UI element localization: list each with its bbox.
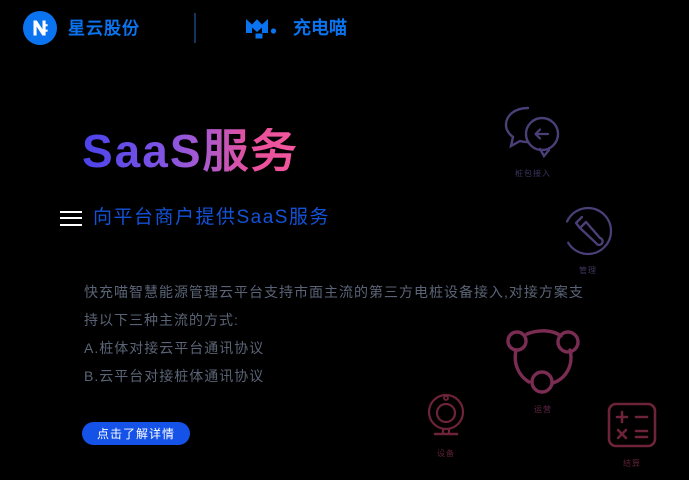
decoration-chat: 桩包接入 [500,104,566,179]
decoration-network-label: 运营 [534,404,552,415]
decoration-device-label: 设备 [437,448,455,459]
learn-more-button[interactable]: 点击了解详情 [82,422,190,445]
decoration-calculator: 结算 [605,400,659,469]
page-title: SaaS服务 [82,128,299,174]
decoration-chat-label: 桩包接入 [515,168,551,179]
brand-primary-label: 星云股份 [68,20,140,37]
decoration-network: 运营 [497,322,589,415]
page-subtitle: 向平台商户提供SaaS服务 [93,208,330,227]
cat-charging-logo-icon [244,16,286,40]
list-item: B.云平台对接桩体通讯协议 [84,362,484,390]
hamburger-menu-icon[interactable] [60,211,82,226]
brand-primary[interactable]: 星云股份 [23,11,140,45]
decoration-tool: 管理 [562,205,614,276]
brand-secondary-label: 充电喵 [293,19,347,37]
speech-bubbles-arrow-icon [500,104,566,165]
decoration-tool-label: 管理 [579,265,597,276]
decoration-calculator-label: 结算 [623,458,641,469]
wrench-circle-icon [562,205,614,262]
header-bar: 星云股份 充电喵 [0,0,689,56]
decoration-device: 设备 [424,390,468,459]
charging-device-icon [424,390,468,445]
subtitle-row: 向平台商户提供SaaS服务 [60,208,330,227]
page-root: 星云股份 充电喵 SaaS服务 向平台商户提供SaaS服务 快充喵智慧能源管理云… [0,0,689,480]
nebula-n-monogram-icon [23,11,57,45]
brand-secondary[interactable]: 充电喵 [244,16,347,40]
list-item: A.桩体对接云平台通讯协议 [84,334,484,362]
vertical-divider [194,13,196,43]
protocol-list: A.桩体对接云平台通讯协议 B.云平台对接桩体通讯协议 [84,334,484,390]
network-nodes-icon [497,322,589,401]
calculator-icon [605,400,659,455]
